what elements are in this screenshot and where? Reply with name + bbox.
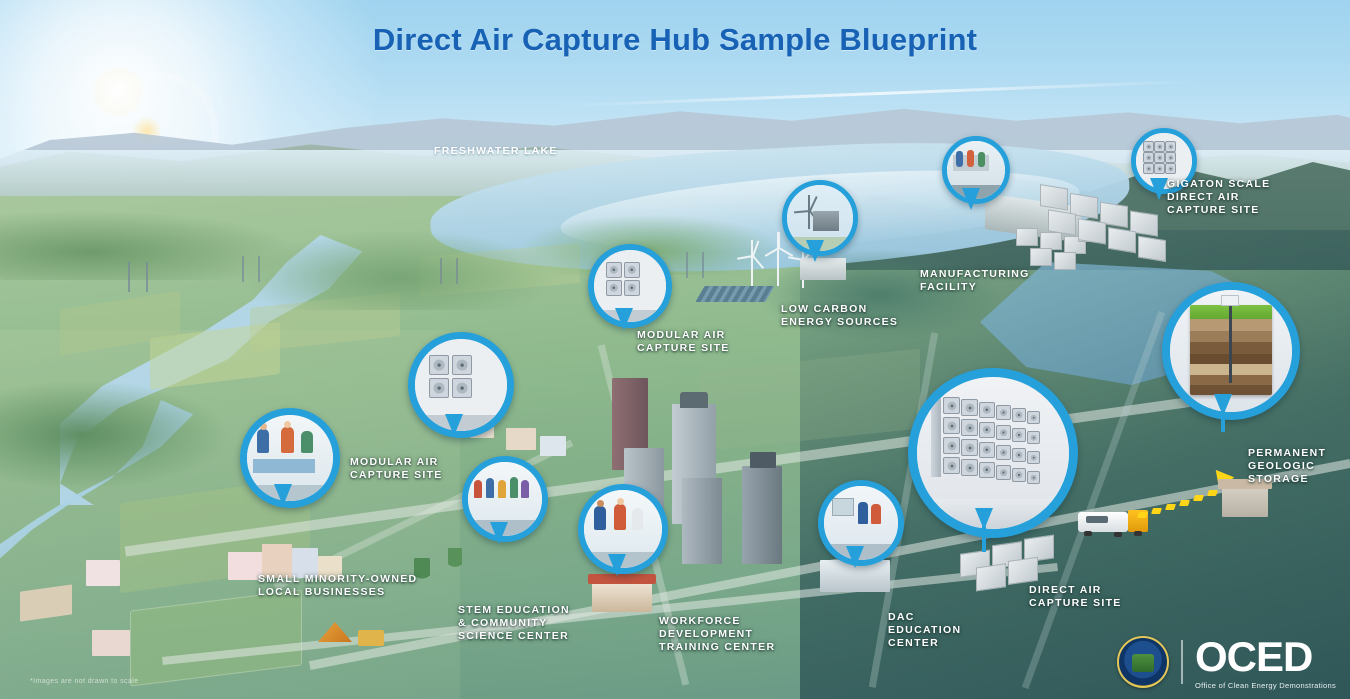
- wind-turbine: [742, 240, 762, 286]
- city-building: [682, 478, 722, 564]
- pin-permanent-geologic-storage[interactable]: [1162, 282, 1284, 404]
- pin-direct-air-capture-site[interactable]: [908, 368, 1060, 520]
- city-building: [742, 466, 782, 564]
- dac-unit: [1008, 557, 1038, 585]
- oced-tagline: Office of Clean Energy Demonstrations: [1195, 682, 1336, 690]
- label-gigaton-scale-dac-site: Gigaton Scale Direct Air Capture Site: [1167, 178, 1270, 217]
- pin-manufacturing-facility[interactable]: [942, 136, 1000, 194]
- house: [86, 560, 120, 586]
- house: [92, 630, 130, 656]
- label-workforce-development-training-center: Workforce Development Training Center: [659, 615, 775, 654]
- label-modular-air-capture-site-left: Modular Air Capture Site: [350, 456, 443, 482]
- oced-logo: OCED Office of Clean Energy Demonstratio…: [1117, 636, 1336, 690]
- pin-stem: [982, 526, 986, 552]
- community-building: [592, 582, 652, 612]
- solar-array: [695, 286, 774, 302]
- pin-modular-air-capture-upper[interactable]: [588, 244, 660, 316]
- label-manufacturing-facility: Manufacturing Facility: [920, 268, 1030, 294]
- city-building: [750, 452, 776, 468]
- page-title: Direct Air Capture Hub Sample Blueprint: [0, 22, 1350, 58]
- crate: [1016, 228, 1038, 246]
- dac-unit: [1040, 184, 1068, 210]
- pin-dac-education-center[interactable]: [818, 480, 892, 554]
- logo-divider: [1181, 640, 1183, 684]
- pin-workforce-training[interactable]: [578, 484, 656, 562]
- label-stem-education-community-science-center: STEM Education & Community Science Cente…: [458, 604, 570, 643]
- house: [228, 552, 262, 580]
- crate: [1054, 252, 1076, 270]
- infographic-canvas: Direct Air Capture Hub Sample Blueprint …: [0, 0, 1350, 699]
- house: [540, 436, 566, 456]
- power-pylon: [242, 256, 260, 282]
- tree-cluster: [240, 230, 560, 310]
- pin-modular-air-capture-left[interactable]: [408, 332, 500, 424]
- us-department-of-energy-seal-icon: [1117, 636, 1169, 688]
- pin-small-local-businesses[interactable]: [240, 408, 326, 494]
- playground: [318, 612, 388, 656]
- injection-facility: [1222, 487, 1268, 517]
- power-pylon: [128, 262, 148, 292]
- label-low-carbon-energy-sources: Low Carbon Energy Sources: [781, 303, 898, 329]
- crate: [1030, 248, 1052, 266]
- injection-well: [1229, 302, 1232, 383]
- label-direct-air-capture-site: Direct Air Capture Site: [1029, 584, 1122, 610]
- dac-unit: [1138, 236, 1166, 262]
- dac-unit: [1048, 209, 1076, 235]
- label-permanent-geologic-storage: Permanent Geologic Storage: [1248, 447, 1326, 486]
- power-pylon: [440, 258, 458, 284]
- dac-unit: [1078, 218, 1106, 244]
- dac-unit: [976, 563, 1006, 591]
- label-small-minority-owned-local-businesses: Small Minority-Owned Local Businesses: [258, 573, 417, 599]
- dac-fan-wall-icon: [908, 368, 1078, 538]
- label-dac-education-center: DAC Education Center: [888, 611, 961, 650]
- tree-cluster: [0, 380, 230, 490]
- label-freshwater-lake: Freshwater Lake: [434, 145, 558, 158]
- house: [506, 428, 536, 450]
- power-pylon: [686, 252, 704, 278]
- footnote: *Images are not drawn to scale: [30, 678, 139, 685]
- pin-gigaton-scale-dac[interactable]: [1131, 128, 1187, 184]
- pin-stem: [1221, 410, 1225, 432]
- label-modular-air-capture-site-upper: Modular Air Capture Site: [637, 329, 730, 355]
- city-building: [680, 392, 708, 408]
- pin-stem-education[interactable]: [462, 456, 536, 530]
- tree: [448, 548, 462, 572]
- pin-low-carbon-energy[interactable]: [782, 180, 848, 246]
- dac-unit: [1108, 227, 1136, 253]
- oced-wordmark: OCED: [1195, 636, 1336, 678]
